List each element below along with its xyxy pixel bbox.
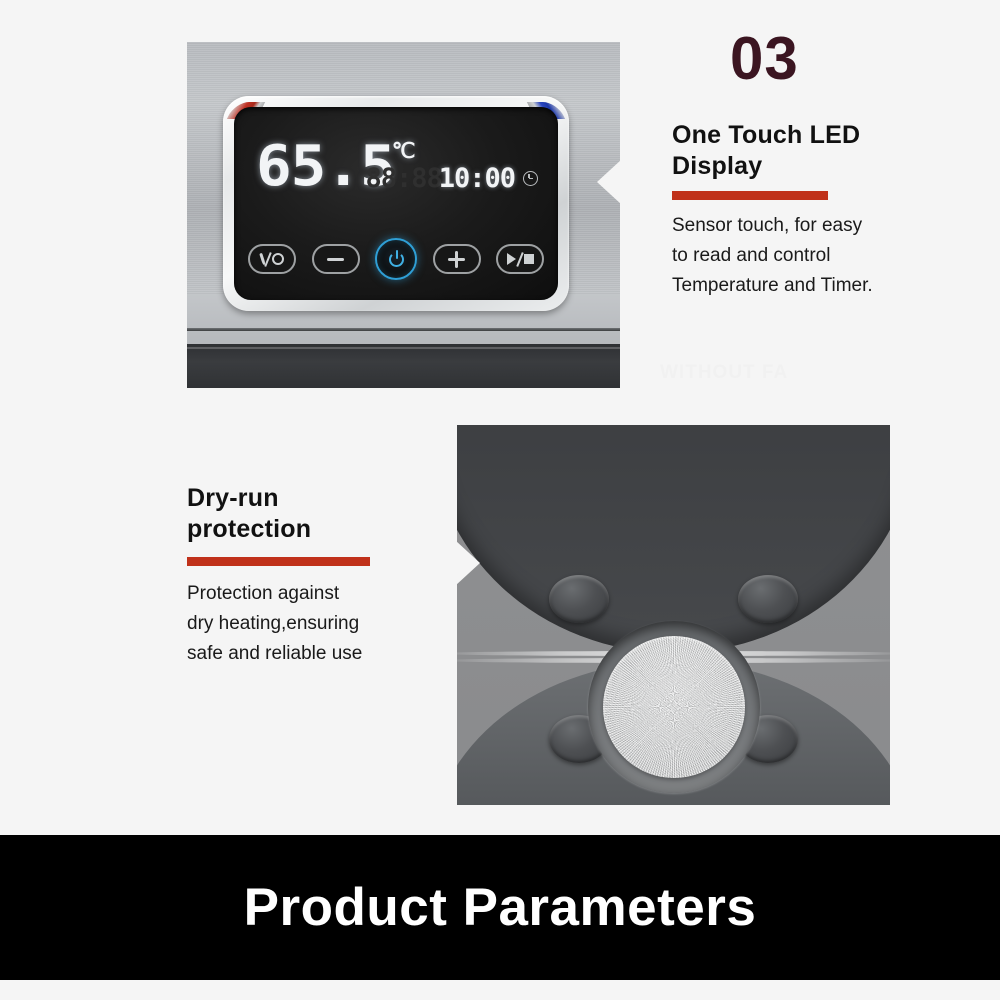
housing-bump <box>738 575 798 623</box>
steel-dark-band <box>187 344 620 388</box>
feature-title: One Touch LED Display <box>672 120 982 182</box>
timer-ghost-segments: 88:88 <box>365 165 441 192</box>
led-screen: 65.5 ℃ 88:88 10:00 <box>234 107 558 300</box>
play-stop-icon <box>507 252 534 267</box>
feature-description-line1: Sensor touch, for easy <box>672 215 862 236</box>
feature-title-line2: Display <box>672 152 762 180</box>
led-display-photo: 65.5 ℃ 88:88 10:00 <box>187 42 620 388</box>
timer-readout: 88:88 10:00 <box>365 165 538 192</box>
start-stop-button[interactable] <box>496 244 544 274</box>
steel-seam-line <box>187 328 620 331</box>
feature-title-line1: Dry-run <box>187 484 279 512</box>
led-button-row <box>248 238 544 280</box>
dry-run-sensor-disc <box>603 636 745 778</box>
background-watermark: WITHOUT FA <box>660 362 788 384</box>
housing-upper-curve <box>457 425 890 653</box>
step-number: 03 <box>730 28 982 90</box>
led-panel-bezel: 65.5 ℃ 88:88 10:00 <box>223 96 569 311</box>
accent-bar <box>672 191 828 200</box>
minus-icon <box>327 258 344 261</box>
feature-description: Sensor touch, for easy to read and contr… <box>672 211 982 301</box>
power-icon <box>389 252 404 267</box>
led-feature-text-block: 03 One Touch LED Display Sensor touch, f… <box>672 28 982 301</box>
callout-notch-right <box>597 160 620 204</box>
timer-value: 10:00 <box>439 165 515 192</box>
thermometer-clock-icon <box>259 251 285 267</box>
clock-icon <box>523 171 538 186</box>
dryrun-feature-text-block: Dry-run protection Protection against dr… <box>187 483 447 669</box>
feature-description-line2: dry heating,ensuring <box>187 613 359 634</box>
feature-title-line2: protection <box>187 515 311 543</box>
feature-title: Dry-run protection <box>187 483 447 545</box>
increase-button[interactable] <box>433 244 481 274</box>
feature-description: Protection against dry heating,ensuring … <box>187 579 447 669</box>
housing-bump <box>549 575 609 623</box>
power-button[interactable] <box>375 238 417 280</box>
sensor-recess <box>588 621 760 793</box>
temperature-unit: ℃ <box>392 141 415 162</box>
dryrun-protection-photo <box>457 425 890 805</box>
plus-icon <box>448 258 465 261</box>
feature-description-line2: to read and control <box>672 245 830 266</box>
decrease-button[interactable] <box>312 244 360 274</box>
feature-description-line3: Temperature and Timer. <box>672 275 873 296</box>
accent-bar <box>187 557 370 566</box>
product-feature-page: WITHOUT FA 65.5 ℃ 88:88 10:00 <box>0 0 1000 1000</box>
feature-description-line3: safe and reliable use <box>187 643 362 664</box>
led-readout-row: 65.5 ℃ 88:88 10:00 <box>234 139 558 213</box>
temp-time-toggle-button[interactable] <box>248 244 296 274</box>
product-parameters-banner: Product Parameters <box>0 835 1000 980</box>
banner-title: Product Parameters <box>244 877 757 938</box>
feature-description-line1: Protection against <box>187 583 339 604</box>
callout-notch-left <box>457 541 480 585</box>
feature-title-line1: One Touch LED <box>672 121 860 149</box>
